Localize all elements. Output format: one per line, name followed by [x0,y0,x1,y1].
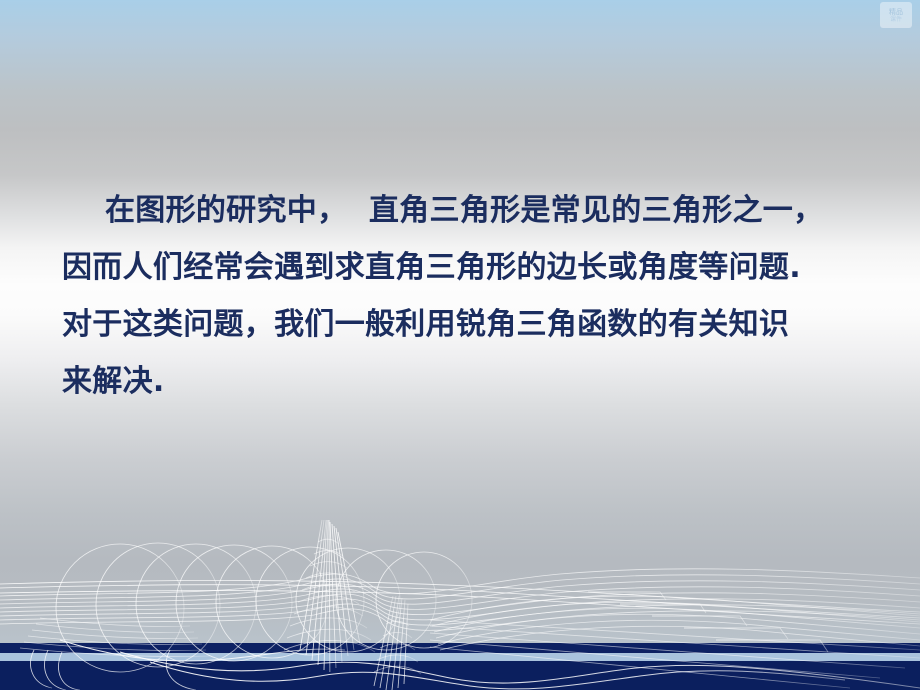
body-paragraph-line-1: 在图形的研究中， 直角三角形是常见的三角形之一， [62,182,862,239]
body-paragraph-line-3: 对于这类问题，我们一般利用锐角三角函数的有关知识 [62,296,862,353]
watermark-logo: 精品 课件 [880,2,912,28]
footer-band-navy-top [0,643,920,653]
body-paragraph-line-4: 来解决. [62,353,862,410]
watermark-logo-line2: 课件 [890,16,902,23]
footer-band-navy-bottom [0,661,920,690]
body-paragraph-line-2: 因而人们经常会遇到求直角三角形的边长或角度等问题. [62,239,862,296]
footer-band-light-stripe [0,653,920,661]
slide-body: 在图形的研究中， 直角三角形是常见的三角形之一， 因而人们经常会遇到求直角三角形… [62,182,862,410]
watermark-logo-line1: 精品 [889,8,903,16]
slide-canvas: 精品 课件 在图形的研究中， 直角三角形是常见的三角形之一， 因而人们经常会遇到… [0,0,920,690]
watermark-logo-text: 精品 课件 [880,2,912,28]
